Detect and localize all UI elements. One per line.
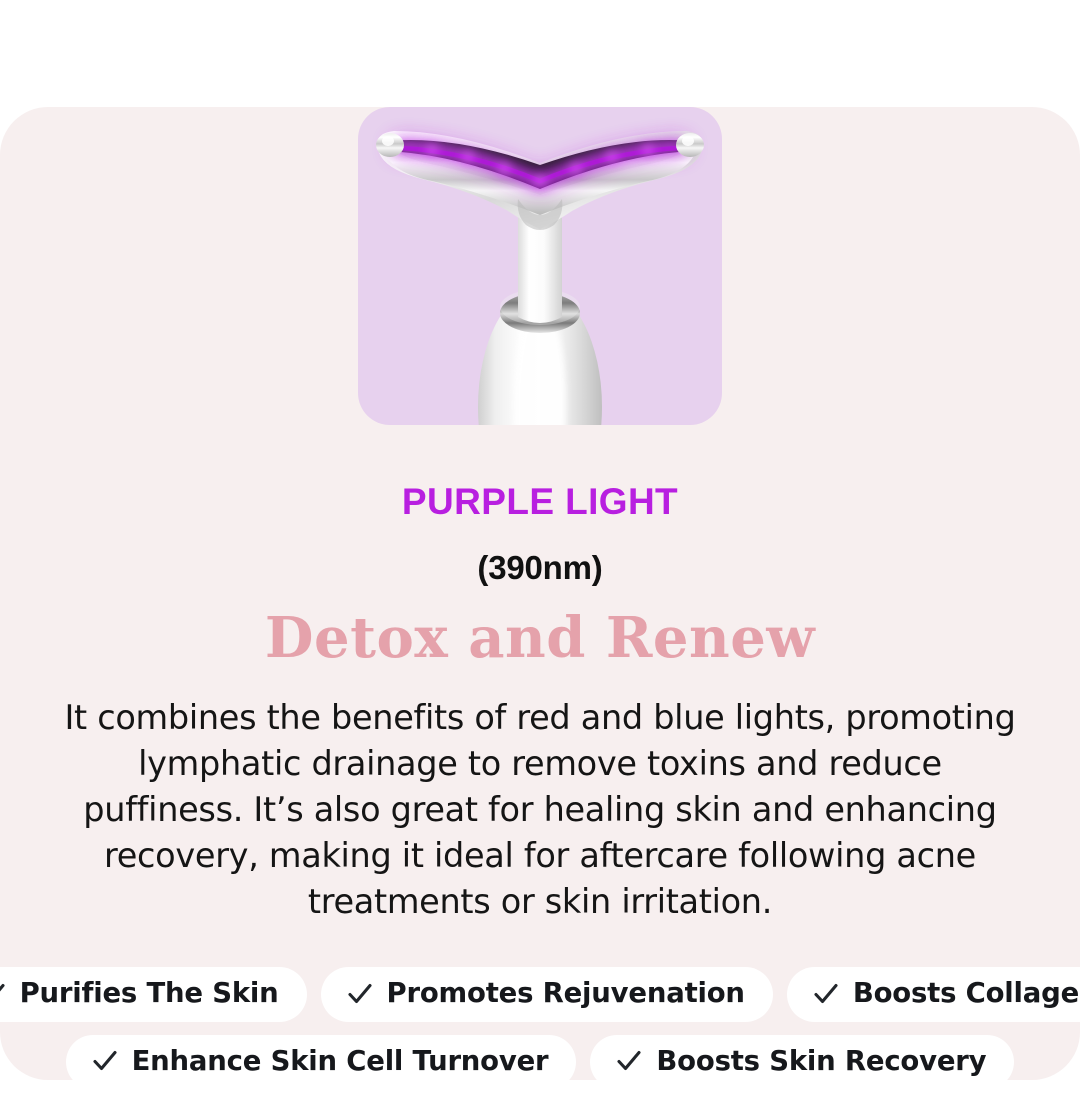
benefit-pill-boosts-skin-recovery[interactable]: Boosts Skin Recovery xyxy=(590,1035,1014,1090)
product-image-panel xyxy=(358,107,722,425)
benefit-label: Enhance Skin Cell Turnover xyxy=(132,1048,549,1076)
tagline: Detox and Renew xyxy=(0,587,1080,671)
benefit-pill-boosts-collagen[interactable]: Boosts Collagen xyxy=(787,967,1080,1022)
product-text-content: PURPLE LIGHT (390nm) Detox and Renew It … xyxy=(0,425,1080,925)
benefit-label: Boosts Collagen xyxy=(853,980,1080,1008)
check-icon xyxy=(347,981,373,1007)
check-icon xyxy=(616,1048,642,1074)
wavelength-label: (390nm) xyxy=(0,523,1080,587)
benefit-label: Boosts Skin Recovery xyxy=(656,1048,986,1076)
benefit-label: Purifies The Skin xyxy=(20,980,279,1008)
benefit-pill-purifies-the-skin[interactable]: Purifies The Skin xyxy=(0,967,307,1022)
benefit-pill-enhance-skin-cell-turnover[interactable]: Enhance Skin Cell Turnover xyxy=(66,1035,577,1090)
check-icon xyxy=(813,981,839,1007)
benefits-list: Purifies The Skin Promotes Rejuvenation … xyxy=(0,967,1080,1102)
benefit-pill-promotes-rejuvenation[interactable]: Promotes Rejuvenation xyxy=(321,967,773,1022)
check-icon xyxy=(0,981,6,1007)
benefits-row-2: Enhance Skin Cell Turnover Boosts Skin R… xyxy=(0,1035,1080,1090)
benefits-row-1: Purifies The Skin Promotes Rejuvenation … xyxy=(0,967,1080,1022)
product-info-card: PURPLE LIGHT (390nm) Detox and Renew It … xyxy=(0,107,1080,1080)
description-paragraph: It combines the benefits of red and blue… xyxy=(60,671,1020,925)
led-device-image xyxy=(358,107,722,425)
benefit-label: Promotes Rejuvenation xyxy=(387,980,745,1008)
check-icon xyxy=(92,1048,118,1074)
light-name-title: PURPLE LIGHT xyxy=(0,425,1080,523)
